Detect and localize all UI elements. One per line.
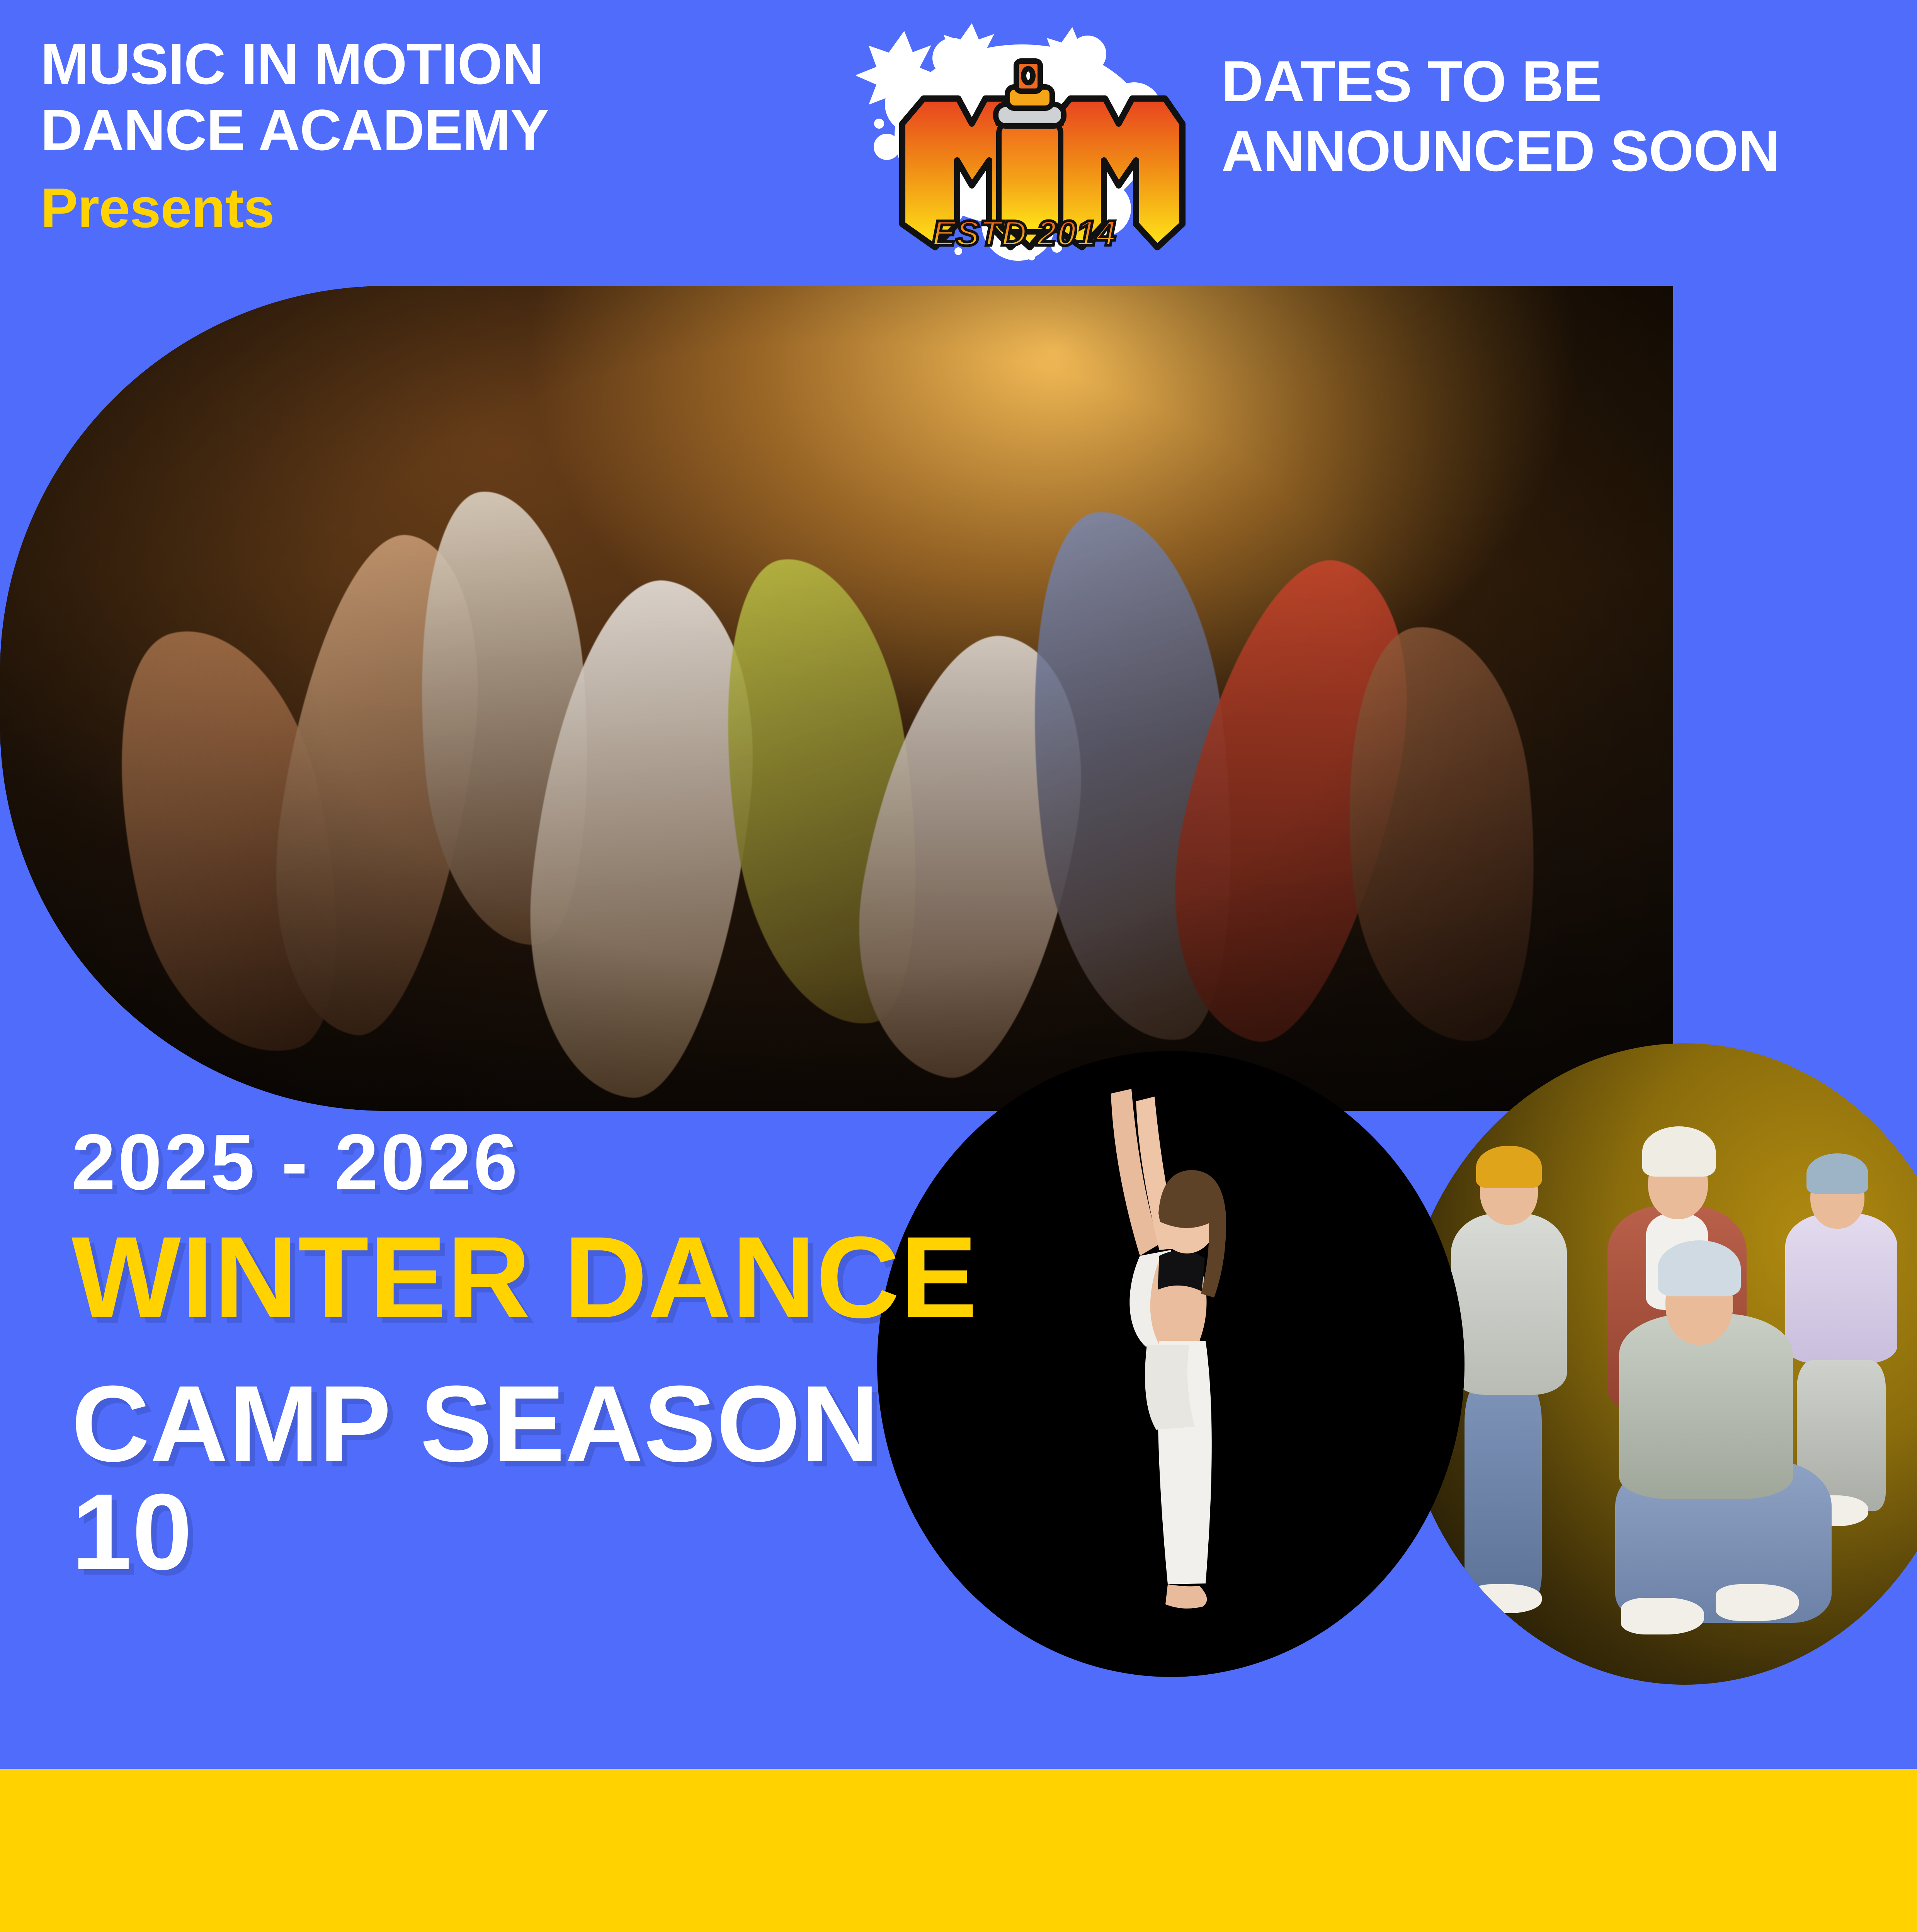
dates-announcement: DATES TO BE ANNOUNCED SOON xyxy=(1221,46,1878,185)
kids-circle-photo xyxy=(1399,1043,1917,1685)
camp-title-block: 2025 - 2026 WINTER DANCE CAMP SEASON 10 xyxy=(71,1122,999,1586)
presents-label: Presents xyxy=(41,176,274,240)
dates-line1: DATES TO BE xyxy=(1221,49,1602,114)
features-title: FUN LEARNING ENVIRONMENT xyxy=(110,1922,1130,1932)
poster-header: MUSIC IN MOTION DANCE ACADEMY Presents D… xyxy=(0,0,1917,278)
hero-vignette xyxy=(0,286,1673,1111)
academy-name-line1: MUSIC IN MOTION xyxy=(41,31,544,96)
dates-line2: ANNOUNCED SOON xyxy=(1221,116,1878,185)
poster-root: MUSIC IN MOTION DANCE ACADEMY Presents D… xyxy=(0,0,1917,1932)
academy-name-line2: DANCE ACADEMY xyxy=(41,97,549,163)
features-panel: FUN LEARNING ENVIRONMENT INTERACTIVE & E… xyxy=(0,1769,1917,1932)
logo-estd-text: ESTD 2014 xyxy=(932,214,1116,253)
camp-title-highlight: WINTER DANCE xyxy=(71,1219,999,1335)
hero-photo-backdrop xyxy=(0,286,1673,1111)
camp-year: 2025 - 2026 xyxy=(71,1122,999,1202)
camp-title-main: CAMP SEASON 10 xyxy=(71,1370,999,1586)
ballet-dancer-figure xyxy=(1043,1074,1291,1662)
mim-logo: ESTD 2014 xyxy=(856,8,1192,263)
hero-dance-photo xyxy=(0,286,1673,1111)
academy-name: MUSIC IN MOTION DANCE ACADEMY xyxy=(41,31,549,163)
